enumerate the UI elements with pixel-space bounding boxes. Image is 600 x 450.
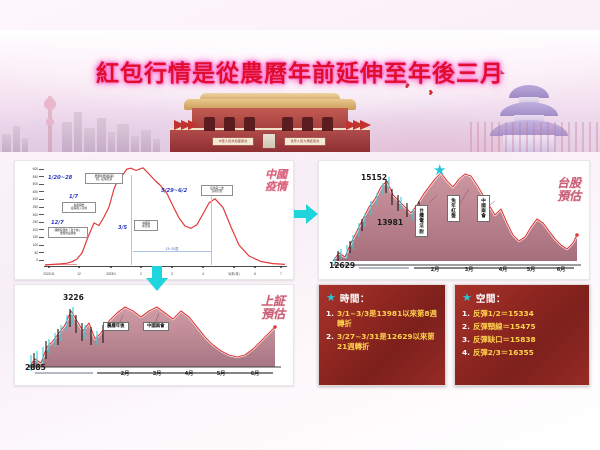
epidemic-xtick: 12 — [77, 272, 81, 276]
list-item: 1. 反彈1/2＝15334 — [462, 309, 584, 319]
panel-time-list: 1. 3/1~3/3是13981以來第8週轉折 2. 3/27~3/31是126… — [326, 309, 440, 355]
epidemic-xtick: 4 — [202, 272, 204, 276]
content-board: 中國 疫情 600 550 500 450 400 350 300 250 20… — [0, 152, 600, 392]
taiwan-star-marker: ★ — [433, 163, 446, 178]
epidemic-date-12-7: 12/7 — [51, 220, 64, 226]
shanghai-month-tick: 4月 — [185, 370, 193, 377]
list-item: 2. 3/27~3/31是12629以來第21週轉折 — [326, 332, 440, 352]
panel-time-heading: 時間： — [340, 291, 370, 305]
list-item-number: 1. — [326, 309, 334, 329]
taiwan-stock-chart[interactable]: 台股 預估 — [318, 160, 590, 280]
shanghai-month-tick: 3月 — [153, 370, 161, 377]
taiwan-event-box-tsmc: 台積電法說 — [415, 205, 428, 237]
star-icon: ★ — [326, 293, 336, 304]
arrow-down-icon — [146, 266, 168, 292]
tiananmen-gate: 中華人民共和國萬歲 世界人民大團結萬歲 — [170, 90, 370, 152]
gate-portrait — [262, 133, 276, 149]
list-item-text: 反彈缺口＝15838 — [473, 335, 536, 345]
slide-canvas: 中華人民共和國萬歲 世界人民大團結萬歲 ➤ ❥ ❥ ❥ — [0, 0, 600, 450]
shanghai-month-tick: 2月 — [121, 370, 129, 377]
gate-plaque-left: 中華人民共和國萬歲 — [212, 137, 254, 146]
shanghai-month-tick: 5月 — [217, 370, 225, 377]
gate-plaque-right-text: 世界人民大團結萬歲 — [285, 138, 325, 145]
epidemic-callout-5-29-6-2: 疫情第二波高峰見到 — [201, 185, 233, 196]
taiwan-price-13981: 13981 — [377, 218, 403, 227]
epidemic-span-label: 13~20週 — [164, 246, 181, 251]
epidemic-date-5-29-6-2: 5/29~6/2 — [161, 188, 187, 194]
shanghai-event-box-newyear: 農曆年後 — [103, 322, 129, 331]
epidemic-callout-12-7: 國務院發布「新十條」放寬防疫措施 — [48, 227, 88, 238]
bridge-decoration — [470, 122, 600, 152]
list-item: 1. 3/1~3/3是13981以來第8週轉折 — [326, 309, 440, 329]
list-item-number: 4. — [462, 348, 470, 358]
taiwan-price-15152: 15152 — [361, 173, 387, 182]
list-item: 3. 反彈缺口＝15838 — [462, 335, 584, 345]
panel-time[interactable]: ★ 時間： 1. 3/1~3/3是13981以來第8週轉折 2. 3/27~3/… — [318, 284, 446, 386]
epidemic-xtick: 6 — [254, 272, 256, 276]
gate-plaque-left-text: 中華人民共和國萬歲 — [213, 138, 253, 145]
epidemic-xtick: 2 — [140, 272, 142, 276]
shanghai-price-2885: 2885 — [25, 363, 46, 372]
taiwan-month-tick: 6月 — [557, 266, 565, 273]
epidemic-y-axis: 600 550 500 450 400 350 300 250 200 150 … — [20, 167, 44, 265]
epidemic-xtick: 2023/1 — [106, 272, 116, 276]
panel-space-list: 1. 反彈1/2＝15334 2. 反彈頸線＝15475 3. 反彈缺口＝158… — [462, 309, 584, 361]
flag-group-right — [346, 114, 368, 130]
epidemic-callout-1-20-28: 農曆年節連假期間，疫情見頂 — [85, 173, 123, 184]
panel-space[interactable]: ★ 空間： 1. 反彈1/2＝15334 2. 反彈頸線＝15475 3. 反彈… — [454, 284, 590, 386]
list-item: 2. 反彈頸線＝15475 — [462, 322, 584, 332]
taiwan-price-12629: 12629 — [329, 261, 355, 270]
panel-space-header: ★ 空間： — [462, 291, 506, 305]
epidemic-xtick: 7 — [280, 272, 282, 276]
page-title: 紅包行情是從農曆年前延伸至年後三月 — [0, 54, 600, 88]
epidemic-xtick: 5(年/月) — [228, 271, 239, 276]
gate-plaque-right: 世界人民大團結萬歲 — [284, 137, 326, 146]
list-item-number: 3. — [462, 335, 470, 345]
shanghai-skyline — [0, 86, 190, 152]
taiwan-event-box-newyear: 兔年紅盤 — [447, 195, 460, 222]
list-item-text: 反彈1/2＝15334 — [473, 309, 534, 319]
epidemic-date-1-7: 1/7 — [69, 194, 78, 200]
list-item-text: 反彈頸線＝15475 — [473, 322, 536, 332]
epidemic-marker-line-start — [131, 175, 132, 265]
panel-space-heading: 空間： — [476, 291, 506, 305]
taiwan-month-tick: 3月 — [465, 266, 473, 273]
taiwan-event-box-npc: 中國兩會 — [477, 195, 490, 222]
epidemic-date-3-5: 3/5 — [118, 225, 127, 231]
list-item-number: 2. — [326, 332, 334, 352]
epidemic-callout-3-5: 中國兩會召開 — [134, 220, 158, 231]
epidemic-date-1-20-28: 1/20~28 — [48, 175, 72, 181]
epidemic-xtick: 3 — [171, 272, 173, 276]
arrow-right-icon — [294, 204, 318, 224]
epidemic-span-bar — [133, 251, 211, 252]
epidemic-callout-1-7: 春運開始疫情進入高峰 — [62, 202, 96, 213]
list-item-number: 1. — [462, 309, 470, 319]
shanghai-index-chart[interactable]: 上証 預估 — [14, 284, 294, 386]
shanghai-event-box-npc: 中國兩會 — [143, 322, 169, 331]
china-epidemic-chart[interactable]: 中國 疫情 600 550 500 450 400 350 300 250 20… — [14, 160, 294, 280]
list-item-text: 反彈2/3＝16355 — [473, 348, 534, 358]
flag-group-left — [174, 114, 196, 130]
taiwan-month-tick: 4月 — [499, 266, 507, 273]
epidemic-xtick: 2022/11 — [43, 272, 54, 276]
list-item-number: 2. — [462, 322, 470, 332]
list-item: 4. 反彈2/3＝16355 — [462, 348, 584, 358]
epidemic-marker-line-end — [211, 189, 212, 265]
panel-time-header: ★ 時間： — [326, 291, 370, 305]
star-icon: ★ — [462, 293, 472, 304]
shanghai-price-3226: 3226 — [63, 293, 84, 302]
shanghai-month-tick: 6月 — [251, 370, 259, 377]
taiwan-month-tick: 2月 — [431, 266, 439, 273]
decorative-banner: 中華人民共和國萬歲 世界人民大團結萬歲 ➤ ❥ ❥ ❥ — [0, 30, 600, 152]
taiwan-month-tick: 5月 — [527, 266, 535, 273]
list-item-text: 3/27~3/31是12629以來第21週轉折 — [337, 332, 440, 352]
list-item-text: 3/1~3/3是13981以來第8週轉折 — [337, 309, 440, 329]
